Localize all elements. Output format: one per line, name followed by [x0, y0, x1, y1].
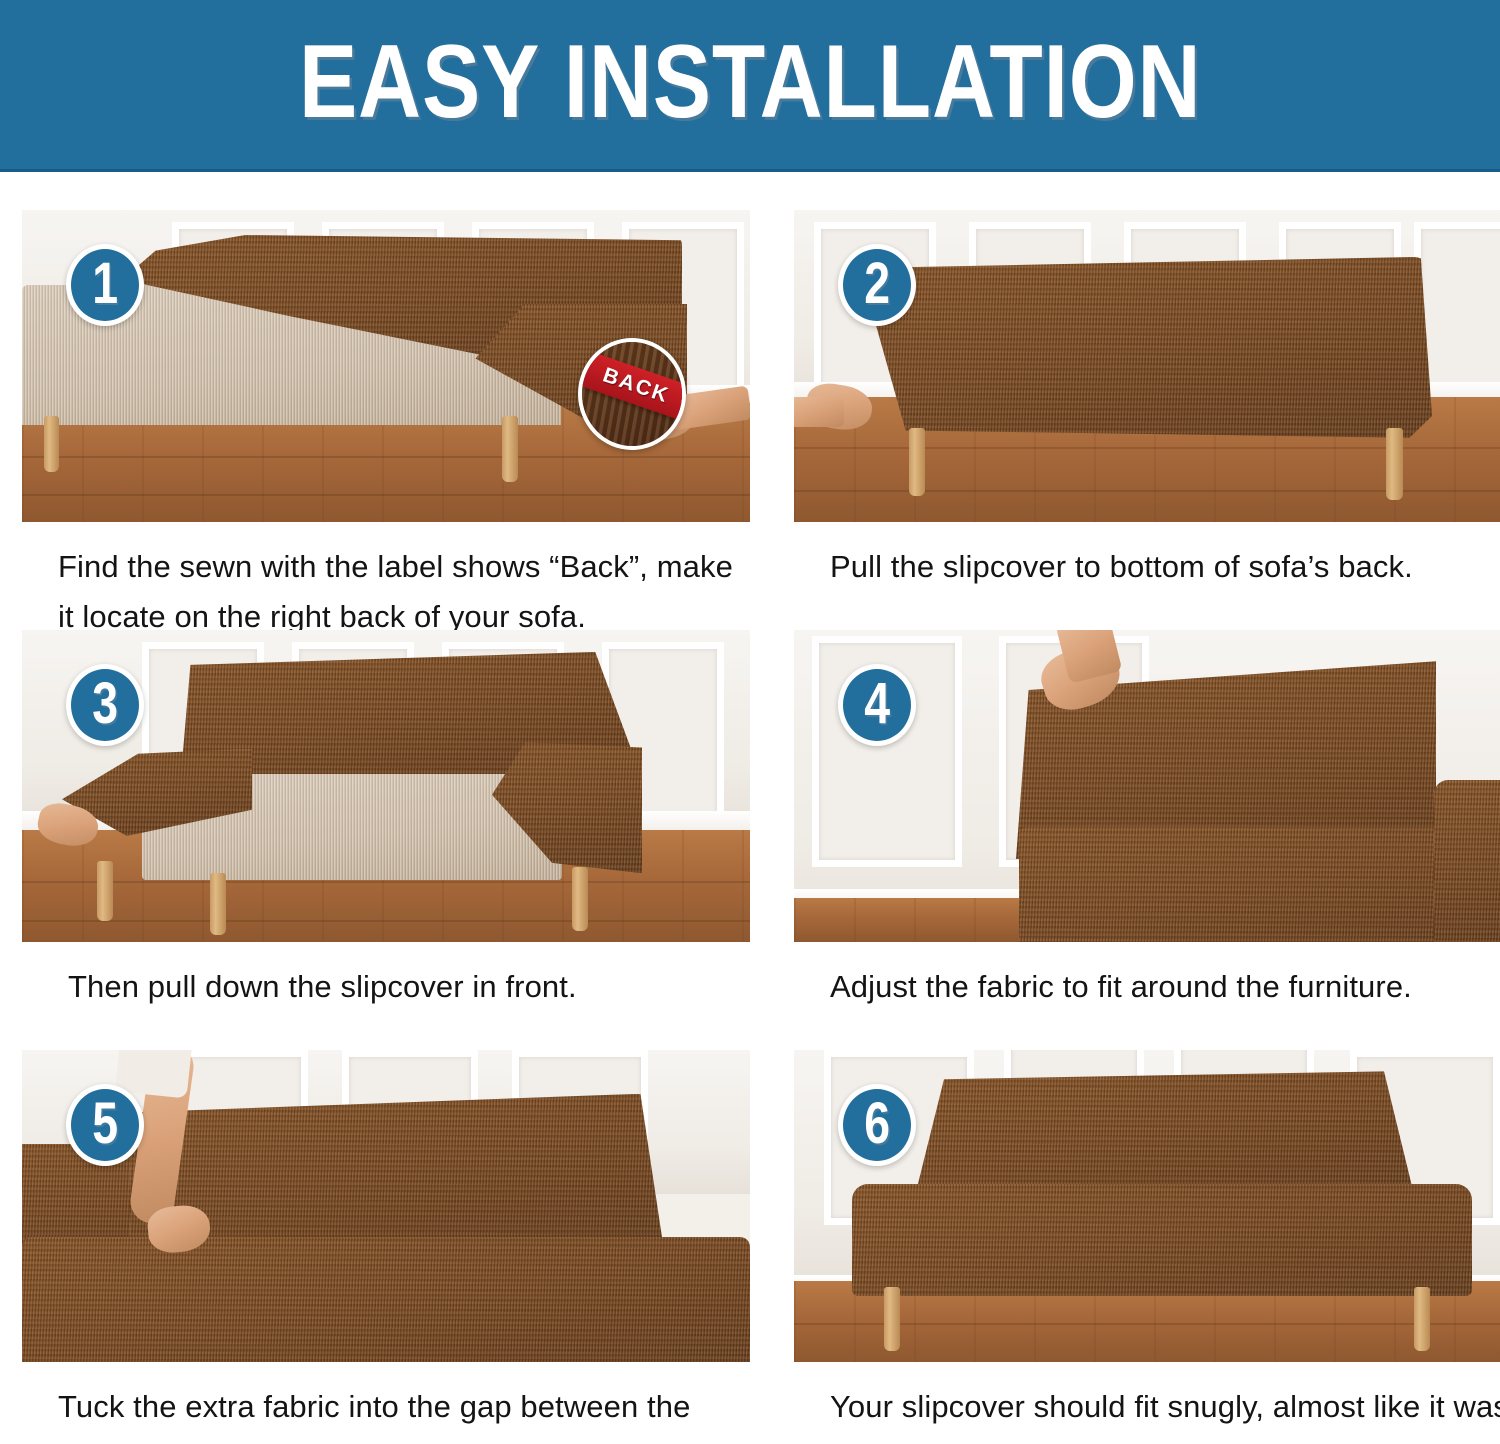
page-title: EASY INSTALLATION: [299, 30, 1201, 134]
step-1-photo: BACK 1: [22, 210, 750, 522]
slipcover-seat: [22, 1237, 750, 1362]
step-2-caption: Pull the slipcover to bottom of sofa’s b…: [794, 522, 1500, 592]
sofa-leg: [1414, 1287, 1430, 1351]
step-1-caption: Find the sewn with the label shows “Back…: [22, 522, 750, 642]
step-badge-5: 5: [66, 1084, 144, 1166]
step-number: 4: [864, 675, 890, 733]
slipcover-seat-closeup: [1019, 827, 1500, 942]
finished-backrest: [914, 1069, 1414, 1200]
step-4-caption: Adjust the fabric to fit around the furn…: [794, 942, 1500, 1012]
sofa-leg: [210, 873, 226, 935]
step-number: 6: [864, 1095, 890, 1153]
step-3-photo: 3: [22, 630, 750, 942]
step-number: 5: [92, 1095, 118, 1153]
header-banner: EASY INSTALLATION: [0, 0, 1500, 172]
step-5-caption-line1: Tuck the extra fabric into the gap betwe…: [58, 1389, 690, 1424]
step-5: 5 Tuck the extra fabric into the gap bet…: [22, 1050, 750, 1444]
step-4-photo: 4: [794, 630, 1500, 942]
step-2-photo: 2: [794, 210, 1500, 522]
back-label-magnifier-callout: BACK: [578, 338, 686, 450]
finished-seat: [852, 1184, 1472, 1296]
step-5-caption-line2: back and sitting area to get refresh vis…: [58, 1439, 712, 1444]
step-5-caption-end: .: [712, 1439, 721, 1444]
step-number: 2: [864, 255, 890, 313]
wood-floor: [794, 898, 1042, 942]
sofa-leg: [909, 428, 925, 496]
step-2: 2 Pull the slipcover to bottom of sofa’s…: [794, 210, 1500, 630]
sofa-leg: [572, 867, 588, 931]
slipcover-arm-edge: [1434, 780, 1500, 942]
step-6: 6 Your slipcover should fit snugly, almo…: [794, 1050, 1500, 1444]
steps-grid: BACK 1 Find the sewn with the label show…: [0, 172, 1500, 1444]
step-4: 4 Adjust the fabric to fit around the fu…: [794, 630, 1500, 1050]
slipcover-on-sofa-back: [872, 257, 1432, 438]
step-number: 3: [92, 675, 118, 733]
step-6-photo: 6: [794, 1050, 1500, 1362]
easy-installation-infographic: EASY INSTALLATION: [0, 0, 1500, 1444]
step-6-caption: Your slipcover should fit snugly, almost…: [794, 1362, 1500, 1444]
sofa-leg: [97, 861, 113, 921]
sofa-leg: [502, 416, 518, 482]
sofa-leg: [884, 1287, 900, 1351]
step-badge-3: 3: [66, 664, 144, 746]
step-badge-4: 4: [838, 664, 916, 746]
step-badge-2: 2: [838, 244, 916, 326]
forearm: [794, 397, 844, 427]
step-number: 1: [92, 255, 118, 313]
step-5-photo: 5: [22, 1050, 750, 1362]
step-badge-6: 6: [838, 1084, 916, 1166]
step-5-caption: Tuck the extra fabric into the gap betwe…: [22, 1362, 750, 1444]
step-3-caption: Then pull down the slipcover in front.: [22, 942, 750, 1012]
step-6-caption-line1: Your slipcover should fit snugly, almost…: [830, 1389, 1500, 1424]
sofa-leg: [1386, 428, 1403, 500]
step-badge-1: 1: [66, 244, 144, 326]
step-3: 3 Then pull down the slipcover in front.: [22, 630, 750, 1050]
step-1: BACK 1 Find the sewn with the label show…: [22, 210, 750, 630]
sofa-leg: [44, 416, 59, 472]
step-6-caption-line2: custom-made and make a positive impressi…: [830, 1439, 1474, 1444]
